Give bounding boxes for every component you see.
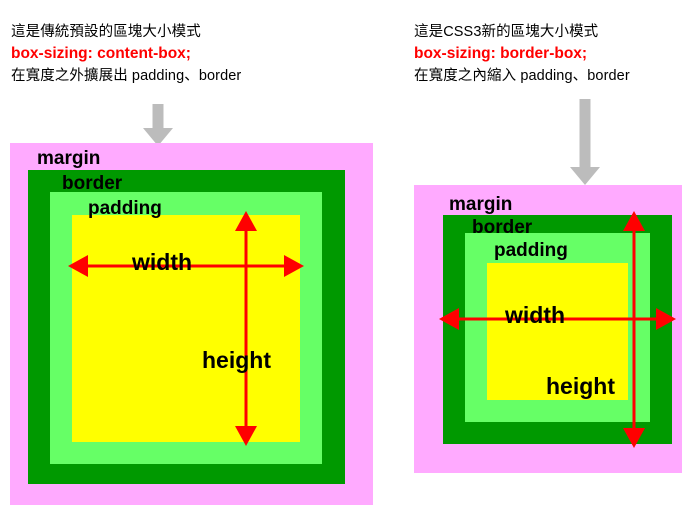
margin-label: margin xyxy=(449,195,512,214)
arrow-head xyxy=(570,167,600,185)
caption-left-line1: 這是傳統預設的區塊大小模式 xyxy=(11,22,241,42)
border-label: border xyxy=(472,218,532,237)
caption-left-line3: 在寬度之外擴展出 padding、border xyxy=(11,66,241,86)
arrow-shaft xyxy=(633,223,636,436)
caption-right-line3: 在寬度之內縮入 padding、border xyxy=(414,66,630,86)
width-label: width xyxy=(132,251,192,274)
height-label: height xyxy=(546,375,615,398)
border-label: border xyxy=(62,174,122,193)
arrow-shaft xyxy=(153,104,164,130)
height-measure-arrow xyxy=(234,211,258,446)
caption-right-line1: 這是CSS3新的區塊大小模式 xyxy=(414,22,630,42)
width-label: width xyxy=(505,304,565,327)
padding-label: padding xyxy=(494,241,568,260)
caption-content-box: 這是傳統預設的區塊大小模式 box-sizing: content-box; 在… xyxy=(11,22,241,86)
down-arrow-icon-left xyxy=(143,104,173,146)
box-model-content-box: margin border padding width height xyxy=(10,143,373,505)
box-model-border-box: margin border padding width height xyxy=(414,185,682,473)
arrow-shaft xyxy=(245,223,248,434)
caption-left-code: box-sizing: content-box; xyxy=(11,42,241,66)
arrow-head-right xyxy=(656,308,676,330)
arrow-shaft xyxy=(580,99,591,169)
arrow-head-down xyxy=(623,428,645,448)
down-arrow-icon-right xyxy=(570,99,600,185)
caption-border-box: 這是CSS3新的區塊大小模式 box-sizing: border-box; 在… xyxy=(414,22,630,86)
arrow-head-right xyxy=(284,255,304,277)
margin-label: margin xyxy=(37,149,100,168)
padding-label: padding xyxy=(88,199,162,218)
arrow-head-down xyxy=(235,426,257,446)
caption-right-code: box-sizing: border-box; xyxy=(414,42,630,66)
height-measure-arrow xyxy=(622,211,646,448)
height-label: height xyxy=(202,349,271,372)
diagram-canvas: 這是傳統預設的區塊大小模式 box-sizing: content-box; 在… xyxy=(0,0,700,514)
